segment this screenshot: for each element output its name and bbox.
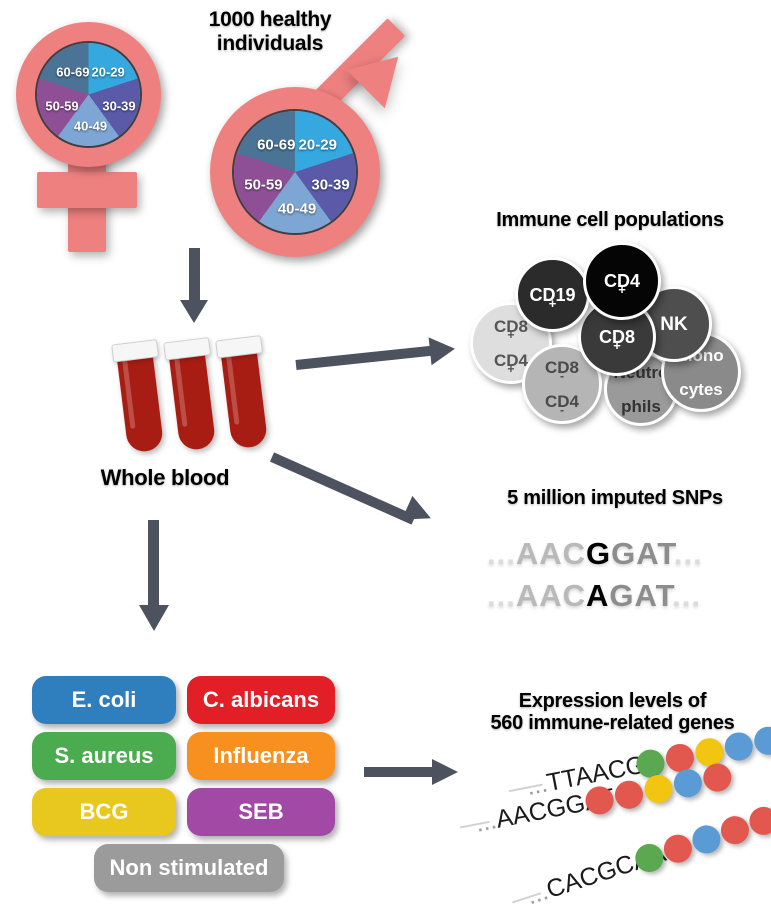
cell-label-nk: NK (660, 315, 687, 334)
age-pie-label-30-39: 30-39 (102, 98, 135, 113)
snp-2-variant: A (586, 578, 609, 613)
stimulation-s-aureus[interactable]: S. aureus (32, 732, 176, 780)
whole-blood-tubes (112, 338, 282, 463)
stimulation-c-albicans[interactable]: C. albicans (187, 676, 335, 724)
figure-canvas: 20-2930-3940-4950-5960-69 20-2930-3940-4… (0, 0, 771, 922)
age-pie-label-50-59: 50-59 (244, 176, 282, 193)
expression-bead-3-5 (746, 803, 771, 838)
snp-sequence-row-2: ...AACAGAT... (487, 578, 701, 614)
snp-1-left: AAC (516, 536, 586, 571)
stimulation-seb[interactable]: SEB (187, 788, 335, 836)
stimulation-non-stimulated[interactable]: Non stimulated (94, 844, 284, 892)
immune-cell-cd19pos: CD19+ (515, 257, 590, 332)
cell-label-monocytes-line2: cytes (678, 381, 723, 398)
stimulation-panel: E. coli C. albicans S. aureus Influenza … (32, 676, 342, 896)
cohort-title-line1: 1000 healthy (175, 8, 365, 32)
snp-1-right: GAT (611, 536, 674, 571)
age-pie-chart-female: 20-2930-3940-4950-5960-69 (35, 41, 142, 148)
snp-2-left: AAC (516, 578, 586, 613)
snp-1-variant: G (586, 536, 611, 571)
blood-tube-2-blood (168, 349, 216, 452)
expression-bead-2-2 (613, 778, 646, 811)
expression-title-line1: Expression levels of (460, 690, 765, 712)
age-pie-label-20-29: 20-29 (91, 65, 124, 80)
cell-label-neutrophils-line2: phils (614, 398, 669, 415)
cohort-title: 1000 healthy individuals (175, 8, 365, 55)
age-pie-label-60-69: 60-69 (257, 137, 295, 154)
snp-1-prefix: ... (487, 536, 516, 571)
age-pie-label-30-39: 30-39 (311, 176, 349, 193)
expression-bead-2-4 (671, 767, 704, 800)
cohort-title-line2: individuals (175, 32, 365, 56)
female-symbol-cross (37, 172, 137, 208)
snp-sequence-row-1: ...AACGGAT... (487, 536, 703, 572)
age-pie-label-50-59: 50-59 (45, 98, 78, 113)
blood-tube-2 (167, 338, 216, 452)
age-pie-label-40-49: 40-49 (278, 201, 316, 218)
immune-cell-populations-title: Immune cell populations (455, 209, 765, 231)
expression-title: Expression levels of 560 immune-related … (460, 690, 765, 735)
whole-blood-label: Whole blood (55, 466, 275, 491)
expression-bead-3-4 (717, 813, 752, 848)
snp-2-prefix: ... (487, 578, 516, 613)
age-pie-label-40-49: 40-49 (74, 119, 107, 134)
expression-bead-1-5 (752, 724, 771, 757)
expression-bead-1-4 (722, 730, 755, 763)
age-pie-label-20-29: 20-29 (299, 137, 337, 154)
age-pie-chart-male: 20-2930-3940-4950-5960-69 (232, 109, 358, 235)
expression-bead-2-3 (642, 773, 675, 806)
female-gender-symbol: 20-2930-3940-4950-5960-69 (10, 12, 170, 252)
stimulation-influenza[interactable]: Influenza (187, 732, 335, 780)
male-gender-symbol: 20-2930-3940-4950-5960-69 (200, 55, 415, 260)
snp-2-right: GAT (609, 578, 672, 613)
snp-title: 5 million imputed SNPs (470, 487, 760, 509)
snp-1-suffix: ... (674, 536, 703, 571)
snp-2-suffix: ... (672, 578, 701, 613)
blood-tube-3-blood (220, 347, 268, 450)
stimulation-bcg[interactable]: BCG (32, 788, 176, 836)
blood-tube-1-blood (116, 351, 164, 454)
blood-tube-3 (219, 336, 268, 450)
immune-cell-cd4pos: CD4+ (583, 242, 661, 320)
expression-bead-3-3 (689, 822, 724, 857)
age-pie-label-60-69: 60-69 (56, 65, 89, 80)
immune-cell-cluster: CD8+ CD4+ CD8- CD4- Neutro phils Mono cy… (455, 240, 771, 415)
stimulation-e-coli[interactable]: E. coli (32, 676, 176, 724)
blood-tube-1 (115, 340, 164, 454)
